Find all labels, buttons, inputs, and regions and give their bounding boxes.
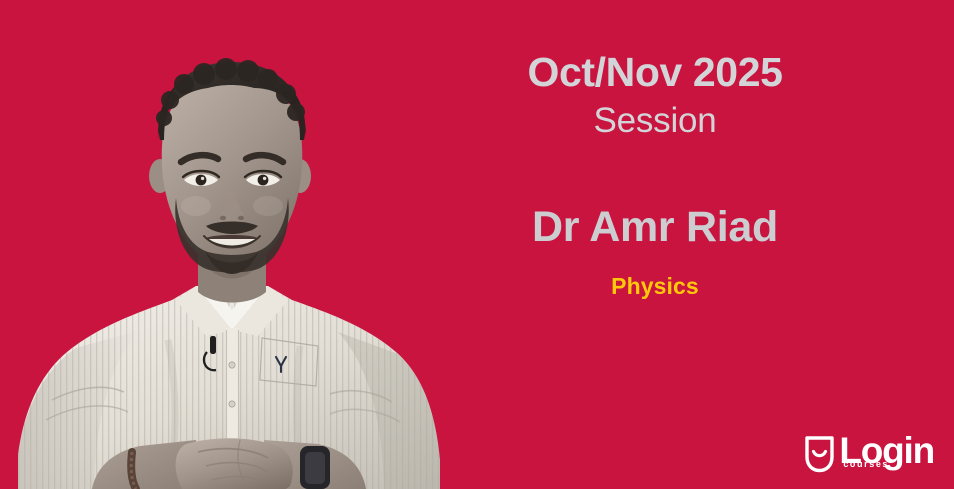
head [149,58,311,274]
portrait-illustration [0,0,460,489]
shield-chevron-icon [803,434,836,474]
session-word-label: Session [528,100,783,142]
promo-banner: Oct/Nov 2025 Session Dr Amr Riad Physics… [0,0,954,489]
teacher-group: Dr Amr Riad Physics [532,204,778,301]
wrist-bracelet [131,452,136,489]
instructor-portrait [0,0,460,489]
session-term-label: Oct/Nov 2025 [528,50,783,96]
session-group: Oct/Nov 2025 Session [528,50,783,142]
teacher-name: Dr Amr Riad [532,204,778,251]
login-courses-logo[interactable]: Login courses [803,432,934,474]
smartwatch [300,446,330,489]
banner-text-block: Oct/Nov 2025 Session Dr Amr Riad Physics [455,0,855,489]
teacher-subject: Physics [532,273,778,301]
logo-tagline: courses [843,460,889,469]
